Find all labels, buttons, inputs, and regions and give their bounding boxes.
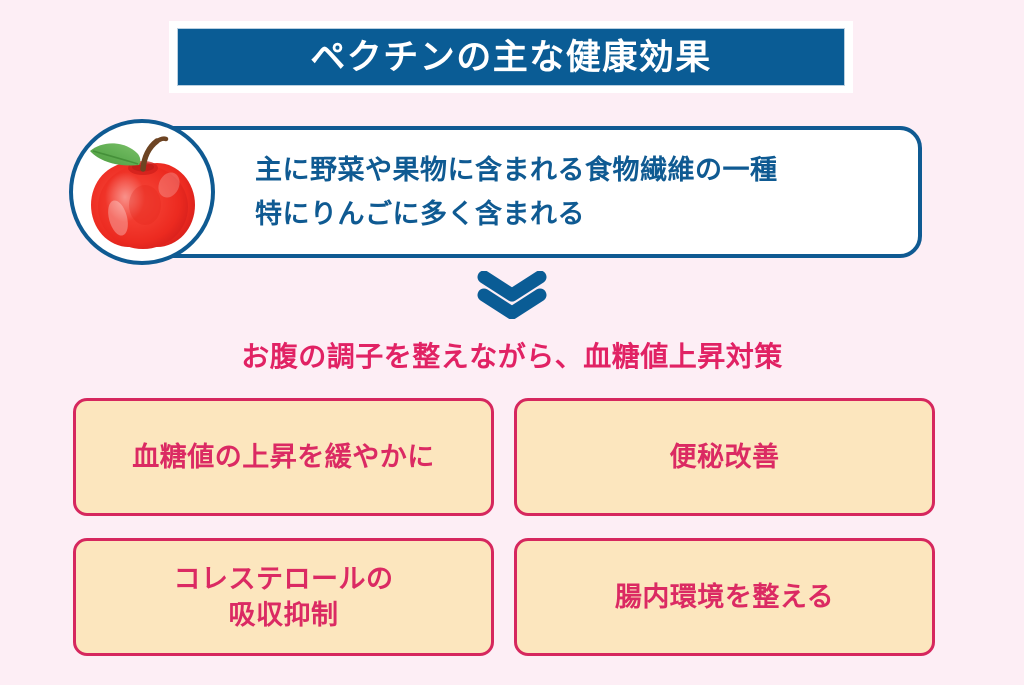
benefit-card-label: 腸内環境を整える: [615, 579, 834, 615]
benefit-card-label: 血糖値の上昇を緩やかに: [132, 439, 435, 475]
benefit-card-grid: 血糖値の上昇を緩やかに 便秘改善 コレステロールの 吸収抑制 腸内環境を整える: [73, 398, 935, 656]
description-line-2: 特にりんごに多く含まれる: [255, 192, 915, 236]
benefit-card-label: 便秘改善: [670, 439, 780, 475]
benefit-card-line: コレステロールの: [174, 561, 394, 597]
benefit-card-line: 吸収抑制: [174, 597, 394, 633]
title-banner-container: ペクチンの主な健康効果: [169, 21, 853, 93]
benefit-card-line: 便秘改善: [670, 439, 780, 475]
benefit-card-label: コレステロールの 吸収抑制: [174, 561, 394, 633]
benefit-card-gut-environment: 腸内環境を整える: [514, 538, 935, 656]
benefit-card-cholesterol: コレステロールの 吸収抑制: [73, 538, 494, 656]
double-chevron-down-icon: [474, 271, 550, 319]
benefit-card-constipation: 便秘改善: [514, 398, 935, 516]
page-title: ペクチンの主な健康効果: [310, 40, 712, 75]
benefit-card-line: 腸内環境を整える: [615, 579, 834, 615]
benefit-card-blood-sugar: 血糖値の上昇を緩やかに: [73, 398, 494, 516]
description-line-1: 主に野菜や果物に含まれる食物繊維の一種: [255, 148, 915, 192]
subheading: お腹の調子を整えながら、血糖値上昇対策: [0, 340, 1024, 374]
apple-icon: [69, 119, 215, 265]
description-text: 主に野菜や果物に含まれる食物繊維の一種 特にりんごに多く含まれる: [255, 148, 915, 236]
title-banner: ペクチンの主な健康効果: [177, 28, 845, 86]
benefit-card-line: 血糖値の上昇を緩やかに: [132, 439, 435, 475]
